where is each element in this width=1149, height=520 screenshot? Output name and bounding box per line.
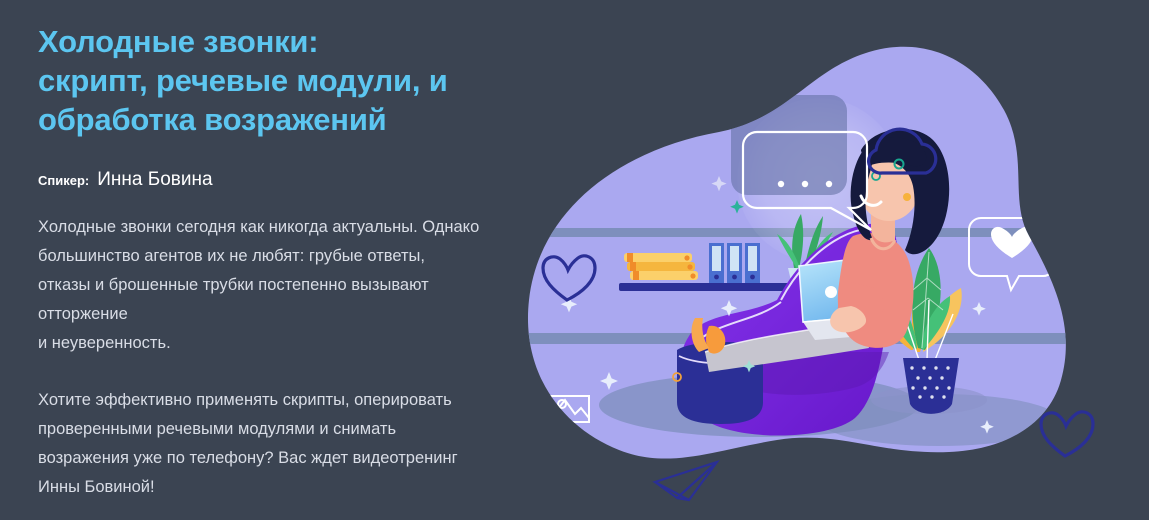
- hero-text-column: Холодные звонки: скрипт, речевые модули,…: [38, 22, 558, 502]
- binders: [709, 243, 760, 283]
- heart-outline-right: [1041, 412, 1093, 456]
- speaker-label: Спикер:: [38, 173, 89, 188]
- speaker-row: Спикер: Инна Бовина: [38, 169, 558, 191]
- stacked-books: [624, 253, 698, 280]
- paper-plane-outline: [655, 462, 717, 500]
- intro-paragraph-2: Хотите эффективно применять скрипты, опе…: [38, 386, 558, 502]
- hero-illustration: [509, 0, 1149, 520]
- speaker-name: Инна Бовина: [97, 169, 212, 191]
- page-title: Холодные звонки: скрипт, речевые модули,…: [38, 22, 558, 139]
- screen-rect-backdrop: [731, 95, 847, 195]
- page-root: Холодные звонки: скрипт, речевые модули,…: [0, 0, 1149, 520]
- intro-paragraph-1: Холодные звонки сегодня как никогда акту…: [38, 213, 558, 358]
